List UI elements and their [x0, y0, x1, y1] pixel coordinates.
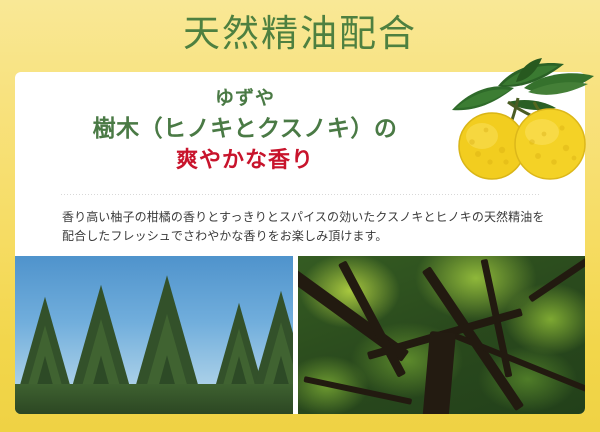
- page-title: 天然精油配合: [0, 8, 600, 62]
- forest-floor: [15, 384, 293, 414]
- lead-line-fragrance: 爽やかな香り: [15, 144, 475, 175]
- kusunoki-camphor-canopy-photo: [298, 256, 585, 414]
- promo-banner: 天然精油配合 ゆずや 樹木（ヒノキとクスノキ）の 爽やかな香り 香り高い柚子の柑…: [0, 0, 600, 432]
- hinoki-conifer-forest-photo: [15, 256, 293, 414]
- content-card: ゆずや 樹木（ヒノキとクスノキ）の 爽やかな香り 香り高い柚子の柑橘の香りとすっ…: [15, 72, 585, 414]
- lead-line-trees: 樹木（ヒノキとクスノキ）の: [15, 112, 475, 144]
- lead-headline-block: ゆずや 樹木（ヒノキとクスノキ）の 爽やかな香り: [15, 86, 475, 175]
- photo-row: [15, 256, 585, 414]
- body-description: 香り高い柚子の柑橘の香りとすっきりとスパイスの効いたクスノキとヒノキの天然精油を…: [62, 208, 550, 246]
- dotted-divider: [61, 194, 539, 195]
- lead-line-brand: ゆずや: [15, 86, 475, 112]
